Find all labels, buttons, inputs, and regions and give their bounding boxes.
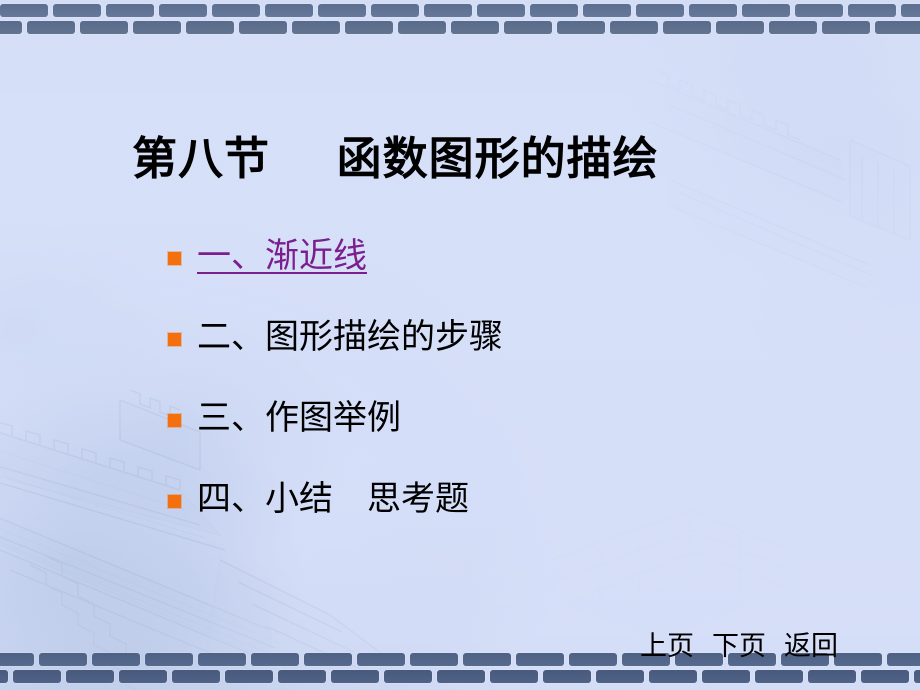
brick (463, 653, 511, 666)
brick (516, 653, 564, 666)
brick (251, 653, 299, 666)
brick (610, 21, 658, 34)
brick (145, 653, 193, 666)
brick (92, 653, 140, 666)
toc-item-label: 二、图形描绘的步骤 (197, 317, 503, 357)
table-of-contents: 一、渐近线 二、图形描绘的步骤 三、作图举例 四、小结 思考题 (168, 236, 788, 560)
brick (39, 653, 87, 666)
brick (795, 4, 843, 17)
square-bullet-icon (168, 414, 181, 427)
brick (808, 670, 856, 683)
brick (0, 653, 34, 666)
brick (702, 670, 750, 683)
brick (822, 21, 870, 34)
brick (53, 4, 101, 17)
footer-navigation: 上页 下页 返回 (640, 624, 838, 663)
brick (384, 670, 432, 683)
brick (437, 670, 485, 683)
brick (887, 653, 920, 666)
top-brick-border (0, 0, 920, 38)
brick (410, 653, 458, 666)
brick (357, 653, 405, 666)
brick (133, 21, 181, 34)
brick (755, 670, 803, 683)
brick (318, 4, 366, 17)
brick (543, 670, 591, 683)
brick (119, 670, 167, 683)
brick (331, 670, 379, 683)
brick (398, 21, 446, 34)
square-bullet-icon (168, 252, 181, 265)
brick (27, 21, 75, 34)
brick (186, 21, 234, 34)
brick (292, 21, 340, 34)
brick (477, 4, 525, 17)
next-page-link[interactable]: 下页 (712, 624, 766, 663)
toc-item-4[interactable]: 四、小结 思考题 (168, 479, 788, 560)
toc-item-1[interactable]: 一、渐近线 (168, 236, 788, 317)
toc-item-label: 一、渐近线 (197, 236, 367, 276)
brick (451, 21, 499, 34)
brick (834, 653, 882, 666)
prev-page-link[interactable]: 上页 (640, 624, 694, 663)
brick (345, 21, 393, 34)
toc-item-3[interactable]: 三、作图举例 (168, 398, 788, 479)
brick (106, 4, 154, 17)
brick (663, 21, 711, 34)
brick (265, 4, 313, 17)
brick (596, 670, 644, 683)
brick (0, 4, 48, 17)
brick (13, 670, 61, 683)
brick (0, 21, 22, 34)
brick (530, 4, 578, 17)
brick (569, 653, 617, 666)
brick (769, 21, 817, 34)
brick (225, 670, 273, 683)
brick (371, 4, 419, 17)
slide-canvas: 第八节 函数图形的描绘 一、渐近线 二、图形描绘的步骤 三、作图举例 四、小结 … (0, 0, 920, 690)
brick (304, 653, 352, 666)
brick (504, 21, 552, 34)
brick (861, 670, 909, 683)
brick (239, 21, 287, 34)
brick (490, 670, 538, 683)
back-link[interactable]: 返回 (784, 624, 838, 663)
toc-item-label: 四、小结 思考题 (197, 479, 469, 519)
toc-item-label: 三、作图举例 (197, 398, 401, 438)
square-bullet-icon (168, 333, 181, 346)
brick (689, 4, 737, 17)
square-bullet-icon (168, 495, 181, 508)
brick (212, 4, 260, 17)
brick (66, 670, 114, 683)
page-title: 第八节 函数图形的描绘 (132, 122, 659, 187)
brick (914, 670, 920, 683)
brick (848, 4, 896, 17)
brick (557, 21, 605, 34)
brick (198, 653, 246, 666)
brick (0, 670, 8, 683)
brick (649, 670, 697, 683)
brick (172, 670, 220, 683)
brick (424, 4, 472, 17)
brick (278, 670, 326, 683)
brick (80, 21, 128, 34)
brick (716, 21, 764, 34)
brick (159, 4, 207, 17)
brick (901, 4, 920, 17)
brick (875, 21, 920, 34)
brick (742, 4, 790, 17)
brick (583, 4, 631, 17)
brick (636, 4, 684, 17)
toc-item-2[interactable]: 二、图形描绘的步骤 (168, 317, 788, 398)
